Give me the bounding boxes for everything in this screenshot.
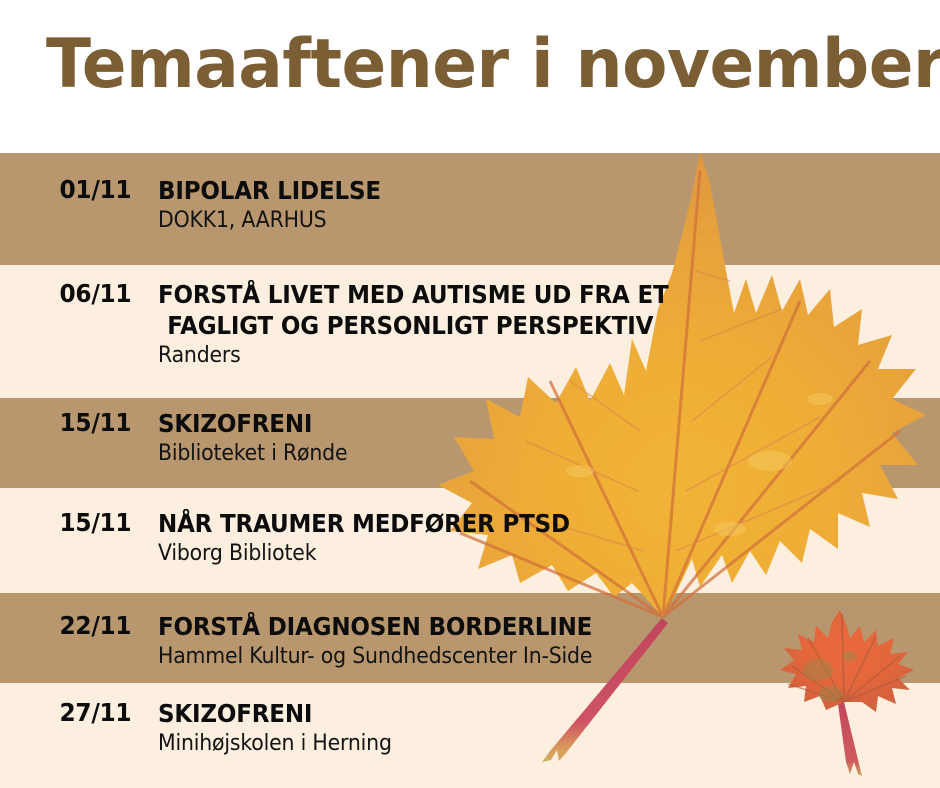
event-body: FORSTÅ DIAGNOSEN BORDERLINE Hammel Kultu…	[158, 611, 940, 671]
event-date: 01/11	[0, 175, 147, 205]
event-row[interactable]: 06/11 FORSTÅ LIVET MED AUTISME UD FRA ET…	[0, 279, 940, 370]
page-title: Temaaftener i november	[46, 26, 880, 104]
title-area: Temaaftener i november	[0, 0, 940, 153]
event-date: 15/11	[0, 408, 147, 438]
event-title-line1: SKIZOFRENI	[158, 409, 312, 438]
event-title: NÅR TRAUMER MEDFØRER PTSD	[158, 508, 877, 539]
event-title-line1: BIPOLAR LIDELSE	[158, 176, 381, 205]
event-title: SKIZOFRENI	[158, 408, 877, 439]
event-venue: Minihøjskolen i Herning	[158, 730, 885, 758]
event-title-line1: SKIZOFRENI	[158, 699, 312, 728]
event-row[interactable]: 01/11 BIPOLAR LIDELSE DOKK1, AARHUS	[0, 175, 940, 235]
event-row[interactable]: 27/11 SKIZOFRENI Minihøjskolen i Herning	[0, 698, 940, 758]
event-title: FORSTÅ LIVET MED AUTISME UD FRA ET FAGLI…	[158, 279, 877, 341]
event-row[interactable]: 22/11 FORSTÅ DIAGNOSEN BORDERLINE Hammel…	[0, 611, 940, 671]
event-venue: Biblioteket i Rønde	[158, 440, 885, 468]
event-title: BIPOLAR LIDELSE	[158, 175, 877, 206]
event-date: 15/11	[0, 508, 147, 538]
event-body: SKIZOFRENI Minihøjskolen i Herning	[158, 698, 940, 758]
event-title-line1: FORSTÅ DIAGNOSEN BORDERLINE	[158, 612, 592, 641]
event-row[interactable]: 15/11 NÅR TRAUMER MEDFØRER PTSD Viborg B…	[0, 508, 940, 568]
event-venue: Randers	[158, 342, 885, 370]
event-title-line1: FORSTÅ LIVET MED AUTISME UD FRA ET	[158, 280, 668, 309]
event-title-line2: FAGLIGT OG PERSONLIGT PERSPEKTIV	[158, 310, 877, 341]
event-venue: Viborg Bibliotek	[158, 540, 885, 568]
event-date: 06/11	[0, 279, 147, 309]
event-body: BIPOLAR LIDELSE DOKK1, AARHUS	[158, 175, 940, 235]
poster-canvas: Temaaftener i november 01/11 BIPOLAR LID…	[0, 0, 940, 788]
event-body: NÅR TRAUMER MEDFØRER PTSD Viborg Bibliot…	[158, 508, 940, 568]
event-date: 27/11	[0, 698, 147, 728]
event-body: SKIZOFRENI Biblioteket i Rønde	[158, 408, 940, 468]
event-title-line1: NÅR TRAUMER MEDFØRER PTSD	[158, 509, 570, 538]
event-date: 22/11	[0, 611, 147, 641]
event-title: SKIZOFRENI	[158, 698, 877, 729]
event-title: FORSTÅ DIAGNOSEN BORDERLINE	[158, 611, 877, 642]
event-venue: DOKK1, AARHUS	[158, 207, 885, 235]
event-row[interactable]: 15/11 SKIZOFRENI Biblioteket i Rønde	[0, 408, 940, 468]
event-body: FORSTÅ LIVET MED AUTISME UD FRA ET FAGLI…	[158, 279, 940, 370]
event-venue: Hammel Kultur- og Sundhedscenter In-Side	[158, 643, 885, 671]
